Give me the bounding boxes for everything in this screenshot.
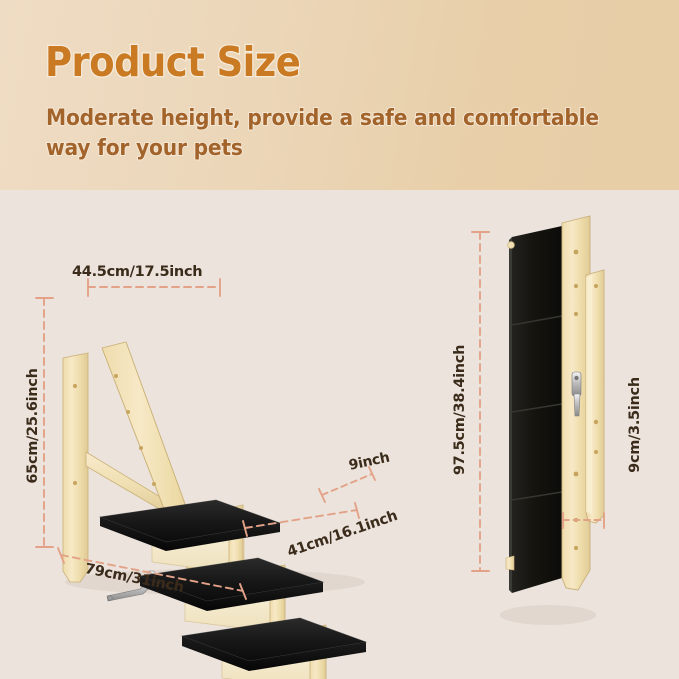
dim-label-overall-height: 65cm/25.6inch [25, 346, 41, 506]
dim-label-top-width: 44.5cm/17.5inch [72, 264, 202, 280]
dim-label-folded-height: 97.5cm/38.4inch [452, 330, 468, 490]
header-banner: Product Size Moderate height, provide a … [0, 0, 679, 190]
product-size-infographic: Product Size Moderate height, provide a … [0, 0, 679, 679]
step-2 [182, 618, 366, 679]
page-subtitle: Moderate height, provide a safe and comf… [46, 104, 646, 163]
dim-label-folded-thickness: 9cm/3.5inch [627, 350, 643, 500]
main-stage: 44.5cm/17.5inch 65cm/25.6inch 79cm/31inc… [0, 190, 679, 679]
page-title: Product Size [45, 38, 300, 86]
pet-stairs-folded [506, 216, 604, 593]
